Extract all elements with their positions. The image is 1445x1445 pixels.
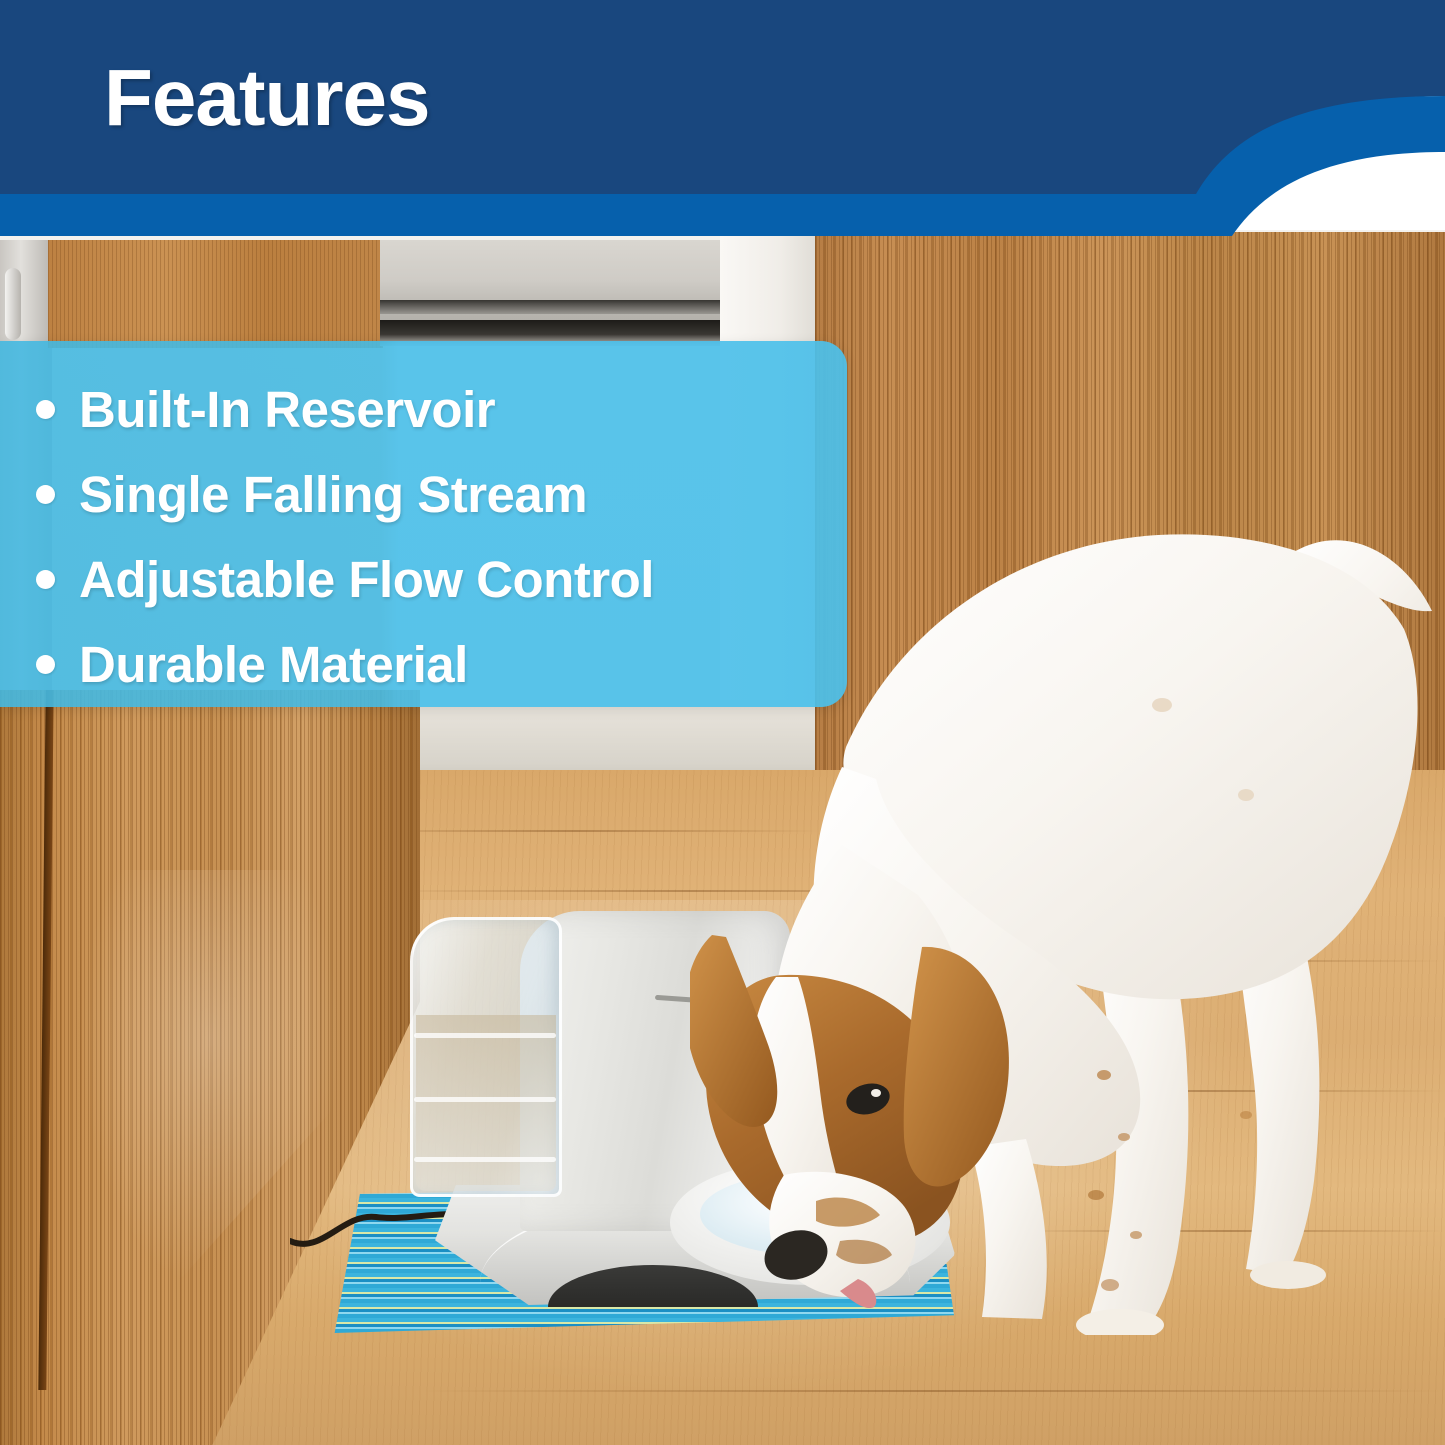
dishwasher-shadow bbox=[380, 300, 725, 314]
feature-label: Adjustable Flow Control bbox=[79, 554, 654, 605]
bullet-dot-icon bbox=[36, 485, 55, 504]
bullet-dot-icon bbox=[36, 400, 55, 419]
cabinet-upper-left bbox=[48, 240, 383, 348]
feature-item-stream: Single Falling Stream bbox=[0, 452, 847, 537]
feature-item-flow-control: Adjustable Flow Control bbox=[0, 537, 847, 622]
reservoir-ridge bbox=[414, 1097, 556, 1102]
reservoir-ridge bbox=[414, 1033, 556, 1038]
feature-label: Built-In Reservoir bbox=[79, 384, 495, 435]
header-banner: Features bbox=[0, 0, 1445, 245]
bullet-dot-icon bbox=[36, 655, 55, 674]
feature-list: Built-In Reservoir Single Falling Stream… bbox=[0, 367, 847, 707]
feature-item-reservoir: Built-In Reservoir bbox=[0, 367, 847, 452]
appliance-handle bbox=[5, 268, 21, 340]
reservoir-water bbox=[416, 1015, 556, 1191]
features-panel: Built-In Reservoir Single Falling Stream… bbox=[0, 341, 847, 707]
feature-label: Single Falling Stream bbox=[79, 469, 587, 520]
product-feature-card: Features Built-In Reservoir Single Falli… bbox=[0, 0, 1445, 1445]
page-title: Features bbox=[104, 58, 429, 138]
reservoir-ridge bbox=[414, 1157, 556, 1162]
feature-label: Durable Material bbox=[79, 639, 468, 690]
bullet-dot-icon bbox=[36, 570, 55, 589]
feature-item-material: Durable Material bbox=[0, 622, 847, 707]
